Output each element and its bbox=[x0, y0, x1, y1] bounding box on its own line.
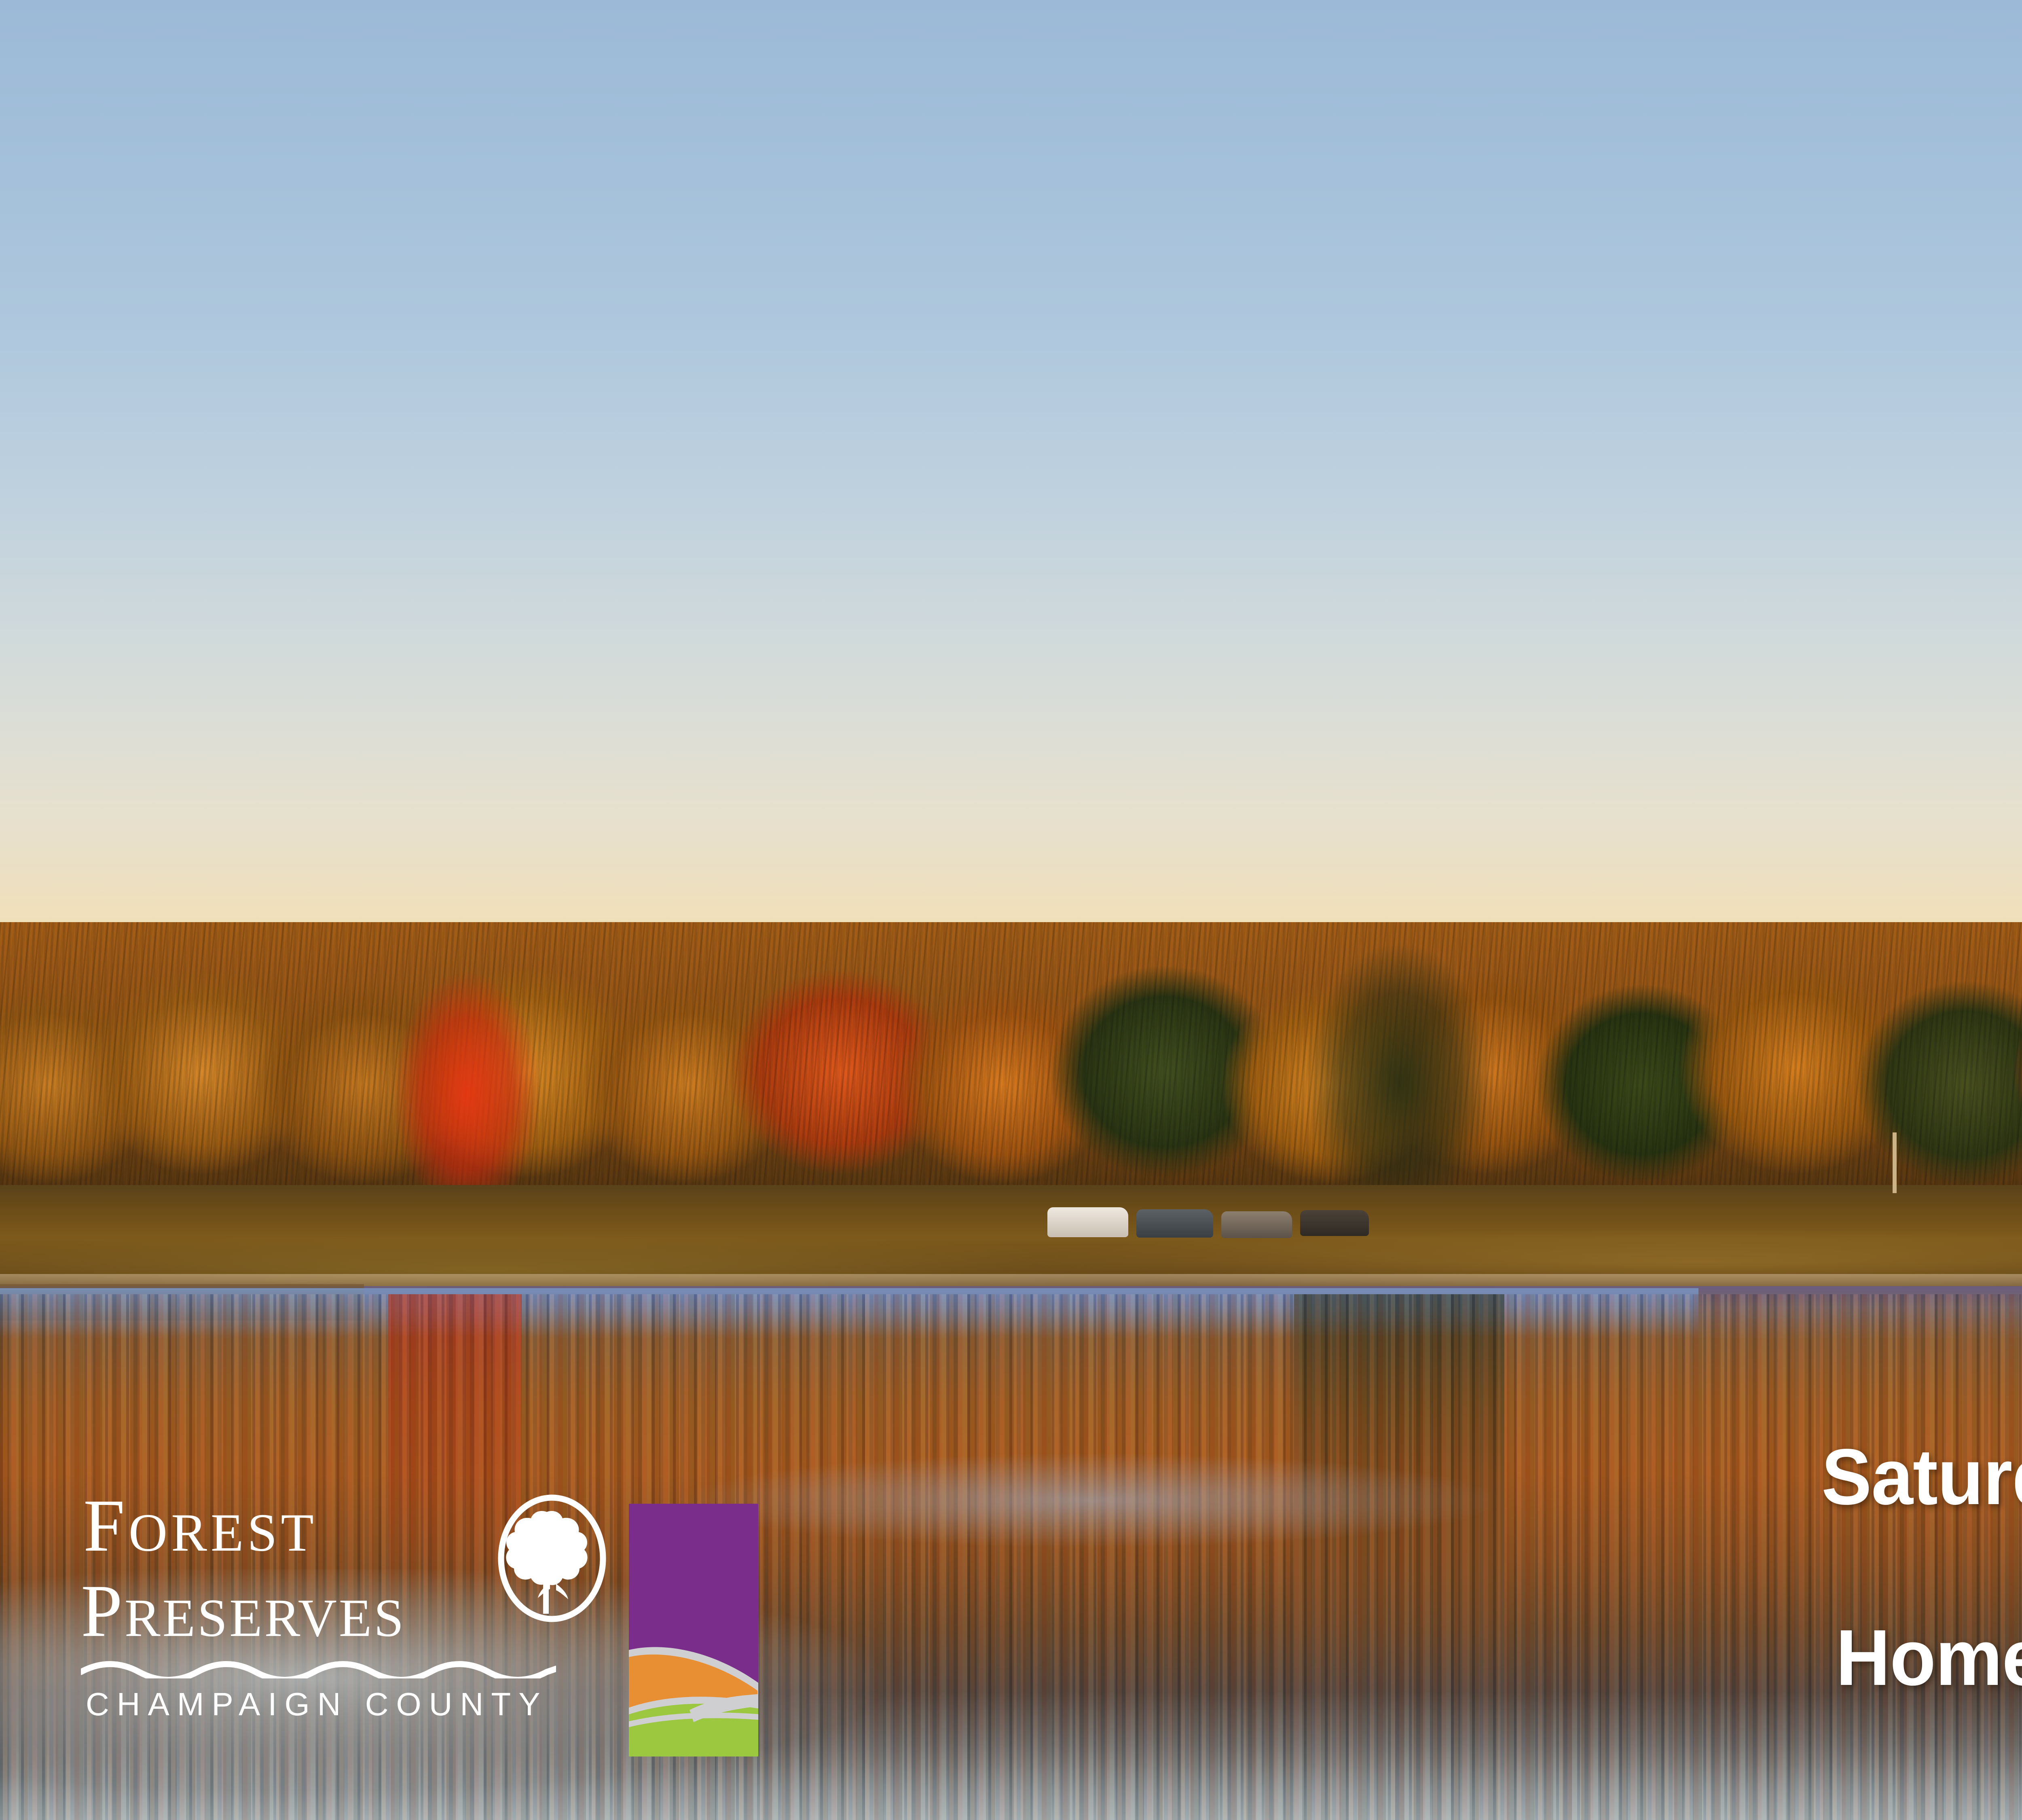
sunrise-hills-badge-icon bbox=[629, 1504, 758, 1757]
tree-in-circle-icon bbox=[495, 1492, 609, 1625]
page-title: History of bbox=[1777, 133, 2022, 301]
event-location: Homer Lake Forest Preserve bbox=[1596, 1613, 2022, 1703]
logo-county-text: CHAMPAIGN COUNTY bbox=[86, 1686, 578, 1723]
parked-car bbox=[1047, 1207, 1128, 1237]
wave-divider-icon bbox=[81, 1661, 556, 1678]
logo-forest-smallcaps: OREST bbox=[129, 1503, 317, 1562]
logo-preserves-smallcaps: RESERVES bbox=[125, 1588, 406, 1648]
parked-car bbox=[1300, 1210, 1369, 1236]
title-block: History of Champaign County Forest Prese… bbox=[1618, 133, 2022, 532]
event-details: Saturday, Jan. 17 ~ 2-3:30 PM Salt Fork … bbox=[1557, 1432, 2022, 1703]
event-venue: Salt Fork Center bbox=[1596, 1522, 2022, 1612]
shoreline-pole bbox=[1893, 1132, 1897, 1193]
event-datetime: Saturday, Jan. 17 ~ 2-3:30 PM bbox=[1596, 1432, 2022, 1522]
parked-car bbox=[1221, 1211, 1292, 1238]
parked-car bbox=[1136, 1209, 1213, 1238]
page-subtitle: Champaign County Forest Preserves: bbox=[1666, 324, 2022, 385]
page-title-place: Homer Lake bbox=[1745, 398, 2022, 532]
poster-root: History of Champaign County Forest Prese… bbox=[0, 0, 2022, 1820]
forest-preserves-logo[interactable]: FOREST PRESERVES CHAMPAIGN COUNTY bbox=[81, 1488, 736, 1771]
